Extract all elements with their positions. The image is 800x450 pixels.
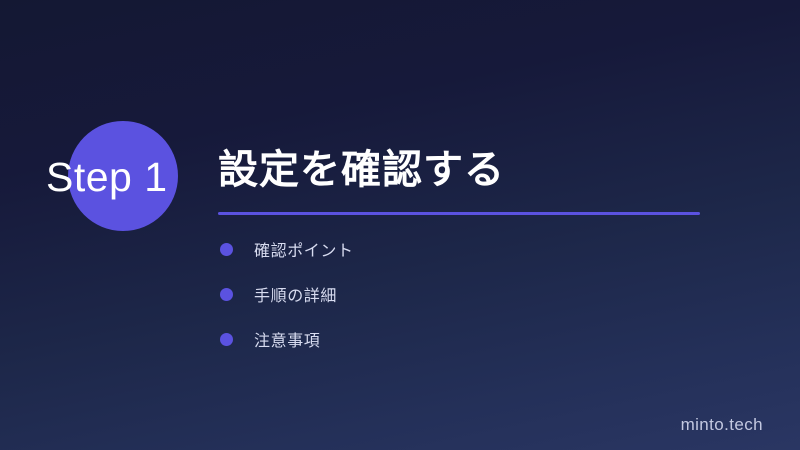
bullet-list: 確認ポイント 手順の詳細 注意事項 (220, 234, 690, 369)
list-item-label: 確認ポイント (254, 237, 354, 261)
list-item: 注意事項 (220, 324, 690, 354)
footer-brand: minto.tech (681, 415, 763, 435)
title-divider (218, 212, 700, 215)
slide-canvas: Step 1 設定を確認する 確認ポイント 手順の詳細 注意事項 minto.t… (0, 0, 800, 450)
slide-title: 設定を確認する (218, 147, 505, 193)
bullet-dot-icon (220, 288, 233, 301)
list-item: 確認ポイント (220, 234, 690, 264)
bullet-dot-icon (220, 243, 233, 256)
bullet-dot-icon (220, 333, 233, 346)
step-badge-label: Step 1 (46, 152, 206, 202)
list-item: 手順の詳細 (220, 279, 690, 309)
list-item-label: 注意事項 (254, 327, 320, 351)
list-item-label: 手順の詳細 (254, 282, 337, 306)
